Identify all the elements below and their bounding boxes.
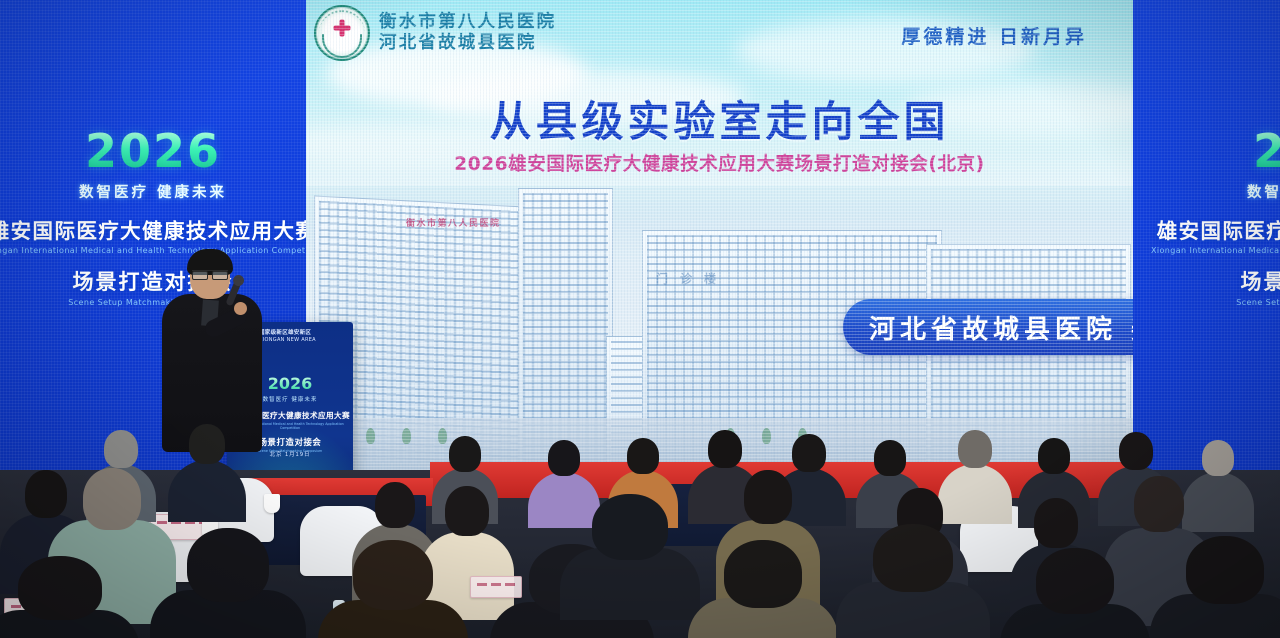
backdrop-panel-right: 2026 数智医疗 健康未来 雄安国际医疗大健康技术应用大赛 Xiongan I… — [1133, 0, 1280, 470]
glasses-icon — [192, 270, 228, 277]
speaker-hand — [234, 302, 247, 315]
tree-icon — [726, 428, 735, 444]
conference-photo: 2026 数智医疗 健康未来 雄安国际医疗大健康技术应用大赛 Xiongan I… — [0, 0, 1280, 638]
hospital-emblem-icon — [314, 5, 370, 61]
building-signage-secondary: 门诊楼 — [656, 270, 728, 287]
event-key-visual-right: 2026 数智医疗 健康未来 雄安国际医疗大健康技术应用大赛 Xiongan I… — [1151, 128, 1280, 307]
projection-screen: 衡水市第八人民医院 门诊楼 衡水市第八人民医院 河北省故城县医院 厚德精进 日新… — [306, 0, 1133, 470]
event-subtitle-en-right: Scene Setup Matchmaking Symposium — [1151, 298, 1280, 307]
slide-title: 从县级实验室走向全国 — [306, 88, 1133, 149]
stage-red-skirt — [430, 462, 1130, 498]
event-slogan-left: 数智医疗 健康未来 — [0, 181, 306, 202]
event-subtitle-right: 场景打造对接会 — [1151, 266, 1280, 296]
speaker-name-text: 河北省故城县医院 姜洪新 — [869, 309, 1133, 346]
building-signage-primary: 衡水市第八人民医院 — [406, 216, 501, 229]
tree-icon — [438, 428, 447, 444]
event-year-right: 2026 — [1151, 128, 1280, 174]
hospital-motto: 厚德精进 日新月异 — [901, 22, 1087, 49]
competition-title-left: 雄安国际医疗大健康技术应用大赛 — [0, 214, 306, 244]
side-table — [660, 484, 780, 546]
competition-title-right: 雄安国际医疗大健康技术应用大赛 — [1151, 214, 1280, 244]
hospital-name-line2: 河北省故城县医院 — [379, 33, 556, 54]
event-year-left: 2026 — [0, 128, 306, 174]
speaker-name-banner: 河北省故城县医院 姜洪新 — [843, 299, 1133, 355]
podium-brand-en: XIONGAN NEW AREA — [259, 337, 316, 343]
tree-icon — [366, 428, 375, 444]
slide-subtitle: 2026雄安国际医疗大健康技术应用大赛场景打造对接会(北京) — [306, 150, 1133, 176]
hospital-name-line1: 衡水市第八人民医院 — [379, 12, 556, 33]
competition-title-en-right: Xiongan International Medical and Health… — [1151, 246, 1280, 255]
tree-icon — [762, 428, 771, 444]
podium-brand-cn: 国家级新区雄安新区 — [259, 330, 316, 337]
head-table — [236, 495, 426, 565]
tree-icon — [402, 428, 411, 444]
hospital-logo-lockup: 衡水市第八人民医院 河北省故城县医院 — [314, 5, 556, 61]
tree-icon — [798, 428, 807, 444]
event-slogan-right: 数智医疗 健康未来 — [1151, 181, 1280, 202]
speaker-person — [158, 252, 266, 452]
